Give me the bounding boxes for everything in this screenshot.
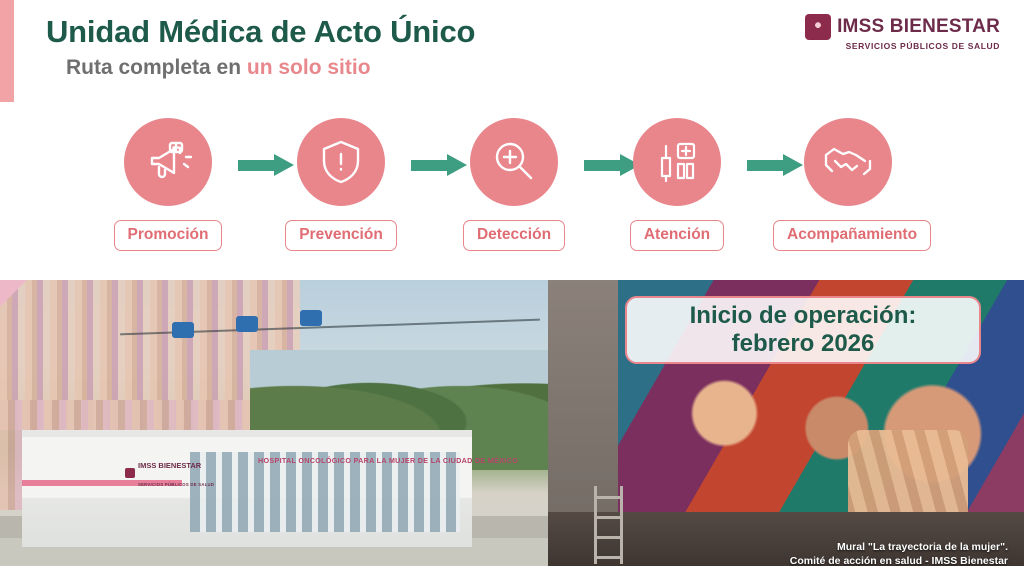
- process-step-label: Acompañamiento: [773, 220, 931, 251]
- shield-alert-icon: [297, 118, 385, 206]
- page-subtitle-highlight: un solo sitio: [247, 56, 371, 79]
- process-step-label: Promoción: [114, 220, 223, 251]
- mural-credit-line-1: Mural "La trayectoria de la mujer".: [790, 540, 1008, 554]
- process-step-deteccion: Detección: [439, 118, 589, 251]
- imss-bienestar-eagle-mark-icon: [125, 468, 135, 478]
- imss-bienestar-eagle-mark-icon: [805, 14, 831, 40]
- page-subtitle: Ruta completa en un solo sitio: [66, 56, 371, 80]
- brand-logo-tagline: SERVICIOS PÚBLICOS DE SALUD: [805, 41, 1000, 51]
- gondola-icon: [172, 322, 194, 338]
- megaphone-icon: [124, 118, 212, 206]
- slide: Unidad Médica de Acto Único Ruta complet…: [0, 0, 1024, 576]
- gondola-icon: [236, 316, 258, 332]
- ladder-icon: [590, 486, 630, 564]
- handshake-icon: [804, 118, 892, 206]
- hospital-logo-tagline: SERVICIOS PÚBLICOS DE SALUD: [138, 482, 214, 487]
- mural-credit: Mural "La trayectoria de la mujer". Comi…: [790, 540, 1008, 568]
- magnifier-plus-icon: [470, 118, 558, 206]
- process-step-atencion: Atención: [602, 118, 752, 251]
- brand-logo: IMSS BIENESTAR SERVICIOS PÚBLICOS DE SAL…: [805, 14, 1000, 51]
- process-step-promocion: Promoción: [93, 118, 243, 251]
- process-step-acompanamiento: Acompañamiento: [773, 118, 923, 251]
- process-step-label: Prevención: [285, 220, 397, 251]
- badge-line-1: Inicio de operación:: [690, 302, 917, 330]
- page-subtitle-plain: Ruta completa en: [66, 56, 247, 79]
- process-step-prevencion: Prevención: [266, 118, 416, 251]
- hospital-oncologico-aerial-photo: IMSS BIENESTAR SERVICIOS PÚBLICOS DE SAL…: [0, 280, 548, 576]
- gondola-icon: [300, 310, 322, 326]
- start-of-operation-badge: Inicio de operación: febrero 2026: [625, 296, 981, 364]
- hospital-logo-name: IMSS BIENESTAR: [138, 461, 201, 470]
- page-title: Unidad Médica de Acto Único: [46, 14, 475, 50]
- syringe-medicine-icon: [633, 118, 721, 206]
- hospital-building-sign: HOSPITAL ONCOLÓGICO PARA LA MUJER DE LA …: [258, 456, 518, 465]
- process-step-label: Detección: [463, 220, 565, 251]
- hospital-building-logo: IMSS BIENESTAR SERVICIOS PÚBLICOS DE SAL…: [125, 455, 214, 491]
- process-flow: Promoción Prevención Detecc: [0, 102, 1024, 280]
- brand-logo-row: IMSS BIENESTAR: [805, 14, 1000, 40]
- header-accent-bar: [0, 0, 14, 102]
- badge-line-2: febrero 2026: [732, 330, 875, 358]
- brand-logo-name: IMSS BIENESTAR: [837, 16, 1000, 38]
- bottom-strip: [0, 566, 1024, 576]
- process-step-label: Atención: [630, 220, 724, 251]
- slide-header: Unidad Médica de Acto Único Ruta complet…: [0, 0, 1024, 102]
